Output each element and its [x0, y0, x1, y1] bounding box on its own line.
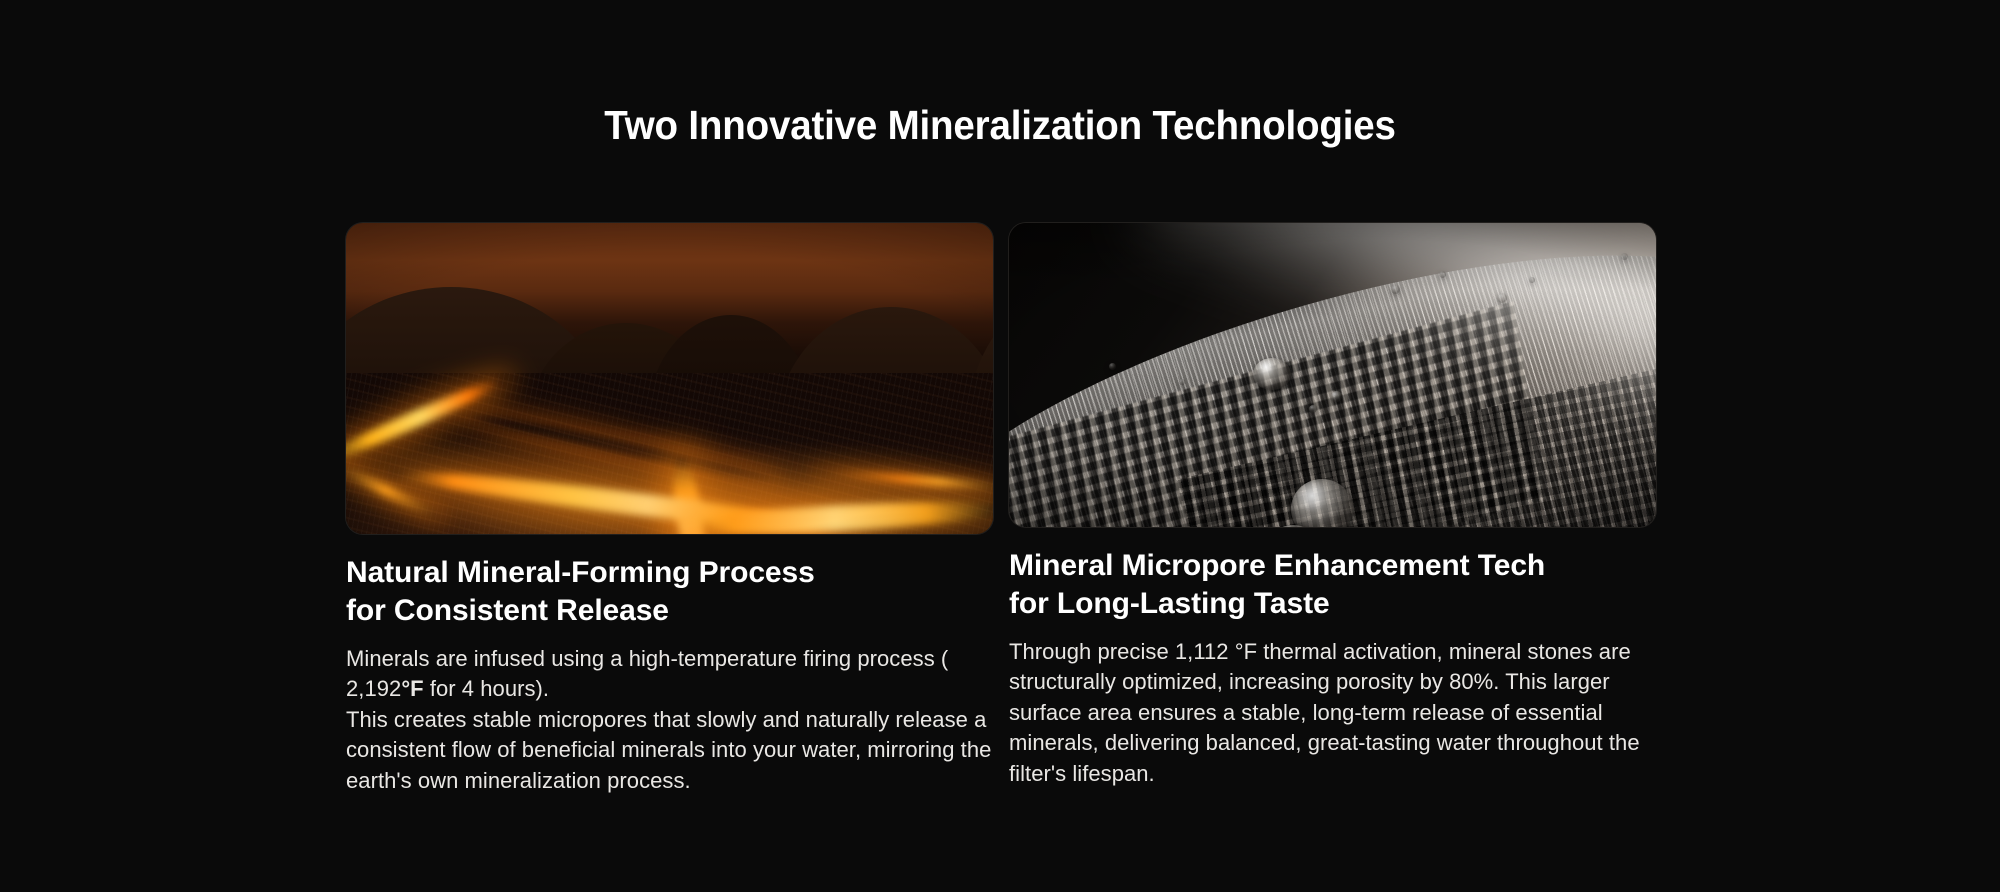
water-droplet: [1529, 277, 1535, 283]
water-droplet: [1109, 363, 1116, 370]
water-droplet: [1331, 391, 1342, 402]
water-droplet: [1253, 358, 1291, 390]
card-mineral-micropore-enhancement: Mineral Micropore Enhancement Tech for L…: [1009, 223, 1656, 789]
micropore-microscope-photo: [1009, 223, 1656, 527]
temperature-unit: °F: [401, 676, 423, 701]
water-droplet: [1391, 285, 1400, 294]
mineralization-technologies-section: Two Innovative Mineralization Technologi…: [0, 0, 2000, 892]
lava-scene: [346, 223, 993, 534]
card-heading: Mineral Micropore Enhancement Tech for L…: [1009, 547, 1656, 623]
card-heading: Natural Mineral-Forming Process for Cons…: [346, 554, 993, 630]
water-droplet: [1179, 379, 1185, 385]
card-body-text-end: for 4 hours). This creates stable microp…: [346, 676, 991, 793]
card-body: Through precise 1,112 °F thermal activat…: [1009, 637, 1656, 790]
card-natural-mineral-forming: Natural Mineral-Forming Process for Cons…: [346, 223, 993, 796]
card-body: Minerals are infused using a high-temper…: [346, 644, 993, 797]
micropore-scene: [1009, 223, 1656, 527]
section-title: Two Innovative Mineralization Technologi…: [60, 103, 1940, 148]
water-droplet: [1309, 405, 1317, 413]
lava-flow-photo: [346, 223, 993, 534]
water-droplet: [1439, 271, 1446, 278]
water-droplet: [1497, 293, 1507, 303]
water-droplet: [1621, 253, 1628, 260]
technology-cards-row: Natural Mineral-Forming Process for Cons…: [346, 223, 1656, 796]
